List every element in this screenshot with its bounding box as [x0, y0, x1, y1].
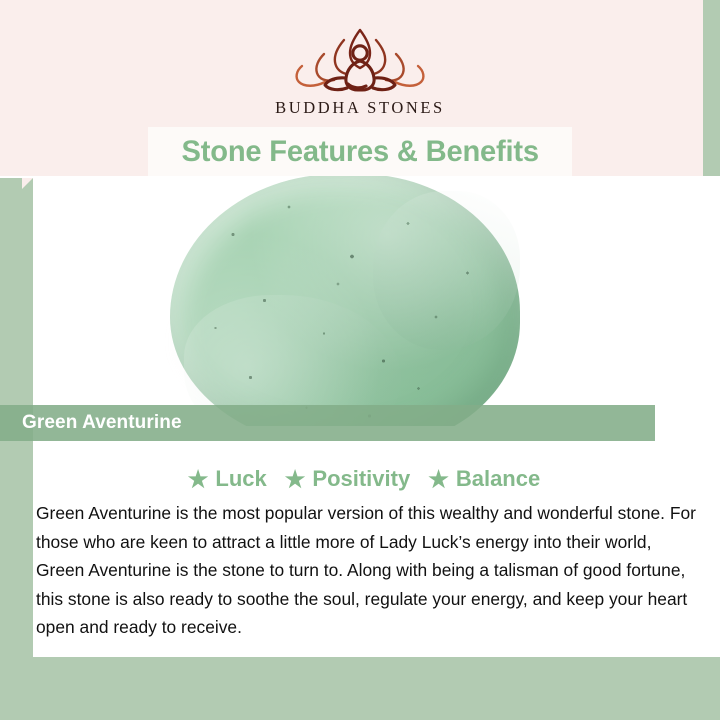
feature-item-balance: ★ Balance — [428, 466, 540, 492]
star-icon: ★ — [188, 468, 209, 491]
product-image — [33, 176, 695, 426]
frame-bottom-bar — [0, 657, 720, 720]
stone-speckles — [170, 176, 520, 426]
features-row: ★ Luck ★ Positivity ★ Balance — [33, 466, 695, 492]
frame-left-bar-notch — [22, 178, 33, 189]
stone-name-band: Green Aventurine — [0, 405, 655, 441]
page-title: Stone Features & Benefits — [181, 135, 538, 169]
brand-wordmark: BUDDHA STONES — [0, 98, 720, 118]
feature-label: Luck — [215, 466, 266, 492]
feature-label: Positivity — [312, 466, 410, 492]
feature-item-positivity: ★ Positivity — [285, 466, 410, 492]
star-icon: ★ — [285, 468, 306, 491]
lotus-meditation-icon — [284, 22, 436, 96]
brand-logo: BUDDHA STONES — [0, 22, 720, 122]
section-title-band: Stone Features & Benefits — [148, 127, 572, 176]
star-icon: ★ — [428, 468, 449, 491]
stone-name-label: Green Aventurine — [22, 412, 182, 434]
feature-label: Balance — [456, 466, 540, 492]
stone-info-card: BUDDHA STONES Stone Features & Benefits … — [0, 0, 720, 720]
feature-item-luck: ★ Luck — [188, 466, 267, 492]
description-text: Green Aventurine is the most popular ver… — [33, 499, 701, 642]
green-aventurine-stone — [170, 176, 520, 426]
